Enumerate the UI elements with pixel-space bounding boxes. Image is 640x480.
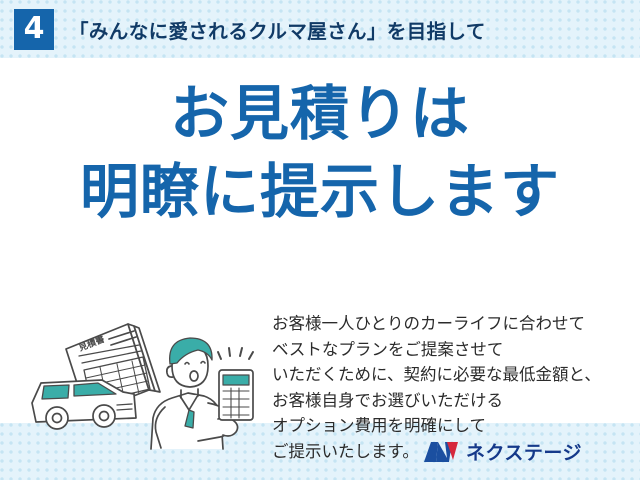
brand-name: ネクステージ (466, 438, 582, 465)
headline: お見積りは 明瞭に提示します (0, 58, 640, 221)
brand-logo: ネクステージ (423, 438, 582, 465)
body-copy-line: お客様自身でお選びいただける (272, 388, 632, 414)
body-copy-line: ベストなプランをご提案させて (272, 337, 632, 363)
footer-band: ネクステージ (0, 423, 640, 480)
section-number-badge: 4 (14, 9, 54, 50)
header-title: 「みんなに愛されるクルマ屋さん」を目指して (69, 15, 486, 44)
calculator-icon (219, 370, 253, 420)
content-panel: お見積りは 明瞭に提示します (0, 58, 640, 423)
promo-poster: 4 「みんなに愛されるクルマ屋さん」を目指して お見積りは 明瞭に提示します (0, 0, 640, 480)
headline-line-1: お見積りは (0, 58, 640, 143)
header-band: 4 「みんなに愛されるクルマ屋さん」を目指して (0, 0, 640, 58)
nextage-n-logo-icon (423, 440, 459, 464)
headline-line-2: 明瞭に提示します (0, 143, 640, 221)
sparkle-icon (218, 348, 253, 359)
body-copy-line: いただくために、契約に必要な最低金額と、 (272, 362, 632, 388)
lower-content: 見積書 (0, 250, 640, 423)
body-copy-line: お客様一人ひとりのカーライフに合わせて (272, 311, 632, 337)
